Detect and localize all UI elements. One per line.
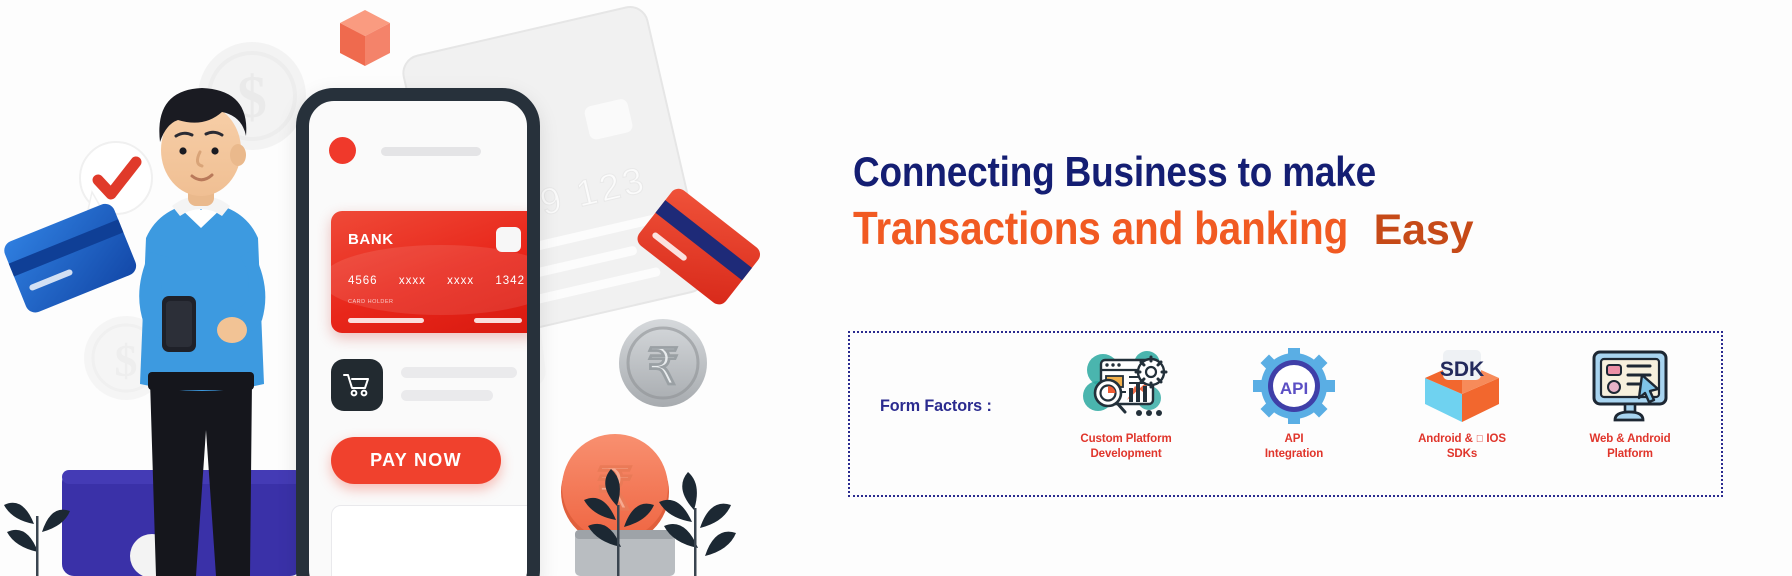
cart-glyph [343, 372, 371, 398]
bank-card-strip-left [348, 318, 424, 323]
form-factor-caption: Custom Platform Development [1080, 432, 1171, 463]
card-number-group-3: xxxx [447, 275, 474, 287]
caption-line-1: Android & [1418, 433, 1476, 445]
form-factor-caption: Web & Android Platform [1589, 432, 1670, 463]
headline-block: Connecting Business to make Transactions… [853, 148, 1473, 254]
bank-card: BANK 4566 xxxx xxxx 1342 CARD HOLDER [331, 211, 539, 333]
check-bubble-icon [80, 142, 152, 214]
svg-text:₹: ₹ [647, 339, 679, 395]
caption-line-1: API [1285, 433, 1304, 445]
orange-cube-icon [340, 10, 390, 66]
sdk-box-icon: SDK [1416, 347, 1508, 425]
phone-record-dot [329, 137, 356, 164]
caption-line-1-tail: IOS [1483, 433, 1506, 445]
form-factor-caption: Android &  IOS SDKs [1418, 432, 1506, 463]
custom-platform-glyph [1081, 348, 1171, 424]
pay-now-button[interactable]: PAY NOW [331, 437, 501, 484]
form-factors-label: Form Factors : [880, 396, 992, 416]
api-icon-text: API [1280, 379, 1308, 398]
banner-content: Connecting Business to make Transactions… [845, 0, 1792, 576]
form-factors-box: Form Factors : [848, 331, 1723, 497]
bank-card-brand: BANK [348, 231, 394, 248]
web-android-monitor-icon [1584, 347, 1676, 425]
form-factor-web-android[interactable]: Web & Android Platform [1546, 347, 1714, 463]
bank-card-number: 4566 xxxx xxxx 1342 [348, 275, 525, 287]
promo-banner: $ $ 789 123 [0, 0, 1792, 576]
caption-line-2: Platform [1607, 448, 1653, 460]
sdk-icon-text: SDK [1440, 358, 1484, 381]
phone-list-line-1 [401, 367, 517, 378]
caption-line-2: Integration [1265, 448, 1323, 460]
phone-list-line-2 [401, 390, 493, 401]
api-gear-glyph: API [1253, 348, 1335, 424]
caption-line-2: Development [1090, 448, 1161, 460]
card-number-group-4: 1342 [495, 275, 525, 287]
bank-card-strip-right [474, 318, 522, 323]
caption-line-1: Custom Platform [1080, 433, 1171, 445]
phone-bottom-card [331, 505, 539, 576]
form-factor-api-integration[interactable]: API API Integration [1210, 347, 1378, 463]
bank-card-chip [496, 227, 521, 252]
custom-platform-development-icon [1080, 347, 1172, 425]
leaf-sprig-3 [4, 503, 70, 576]
headline-line-1: Connecting Business to make [853, 148, 1399, 195]
svg-text:$: $ [115, 335, 138, 386]
coin-slot-base [575, 530, 675, 576]
smartphone-mockup: BANK 4566 xxxx xxxx 1342 CARD HOLDER [296, 88, 540, 576]
form-factor-caption: API Integration [1265, 432, 1323, 463]
shopping-cart-icon[interactable] [331, 359, 383, 411]
blue-credit-card [1, 201, 139, 316]
sdk-box-glyph: SDK [1419, 348, 1505, 424]
card-number-group-2: xxxx [399, 275, 426, 287]
api-gear-icon: API [1248, 347, 1340, 425]
payment-illustration: $ $ 789 123 [0, 0, 820, 576]
caption-line-2: SDKs [1447, 448, 1477, 460]
headline-line-2-primary: Transactions and banking [853, 203, 1348, 254]
phone-header-bar [381, 147, 481, 156]
form-factor-sdk[interactable]: SDK Android &  IOS SDKs [1378, 347, 1546, 463]
headline-line-2: Transactions and bankingEasy [853, 203, 1473, 254]
bank-card-holder-label: CARD HOLDER [348, 299, 394, 305]
rupee-coin-silver: ₹ [619, 319, 707, 407]
form-factors-list: Custom Platform Development [1042, 347, 1714, 487]
caption-line-1: Web & Android [1589, 433, 1670, 445]
card-number-group-1: 4566 [348, 275, 378, 287]
headline-line-2-accent: Easy [1374, 207, 1474, 254]
monitor-glyph [1588, 348, 1672, 424]
form-factor-custom-platform[interactable]: Custom Platform Development [1042, 347, 1210, 463]
